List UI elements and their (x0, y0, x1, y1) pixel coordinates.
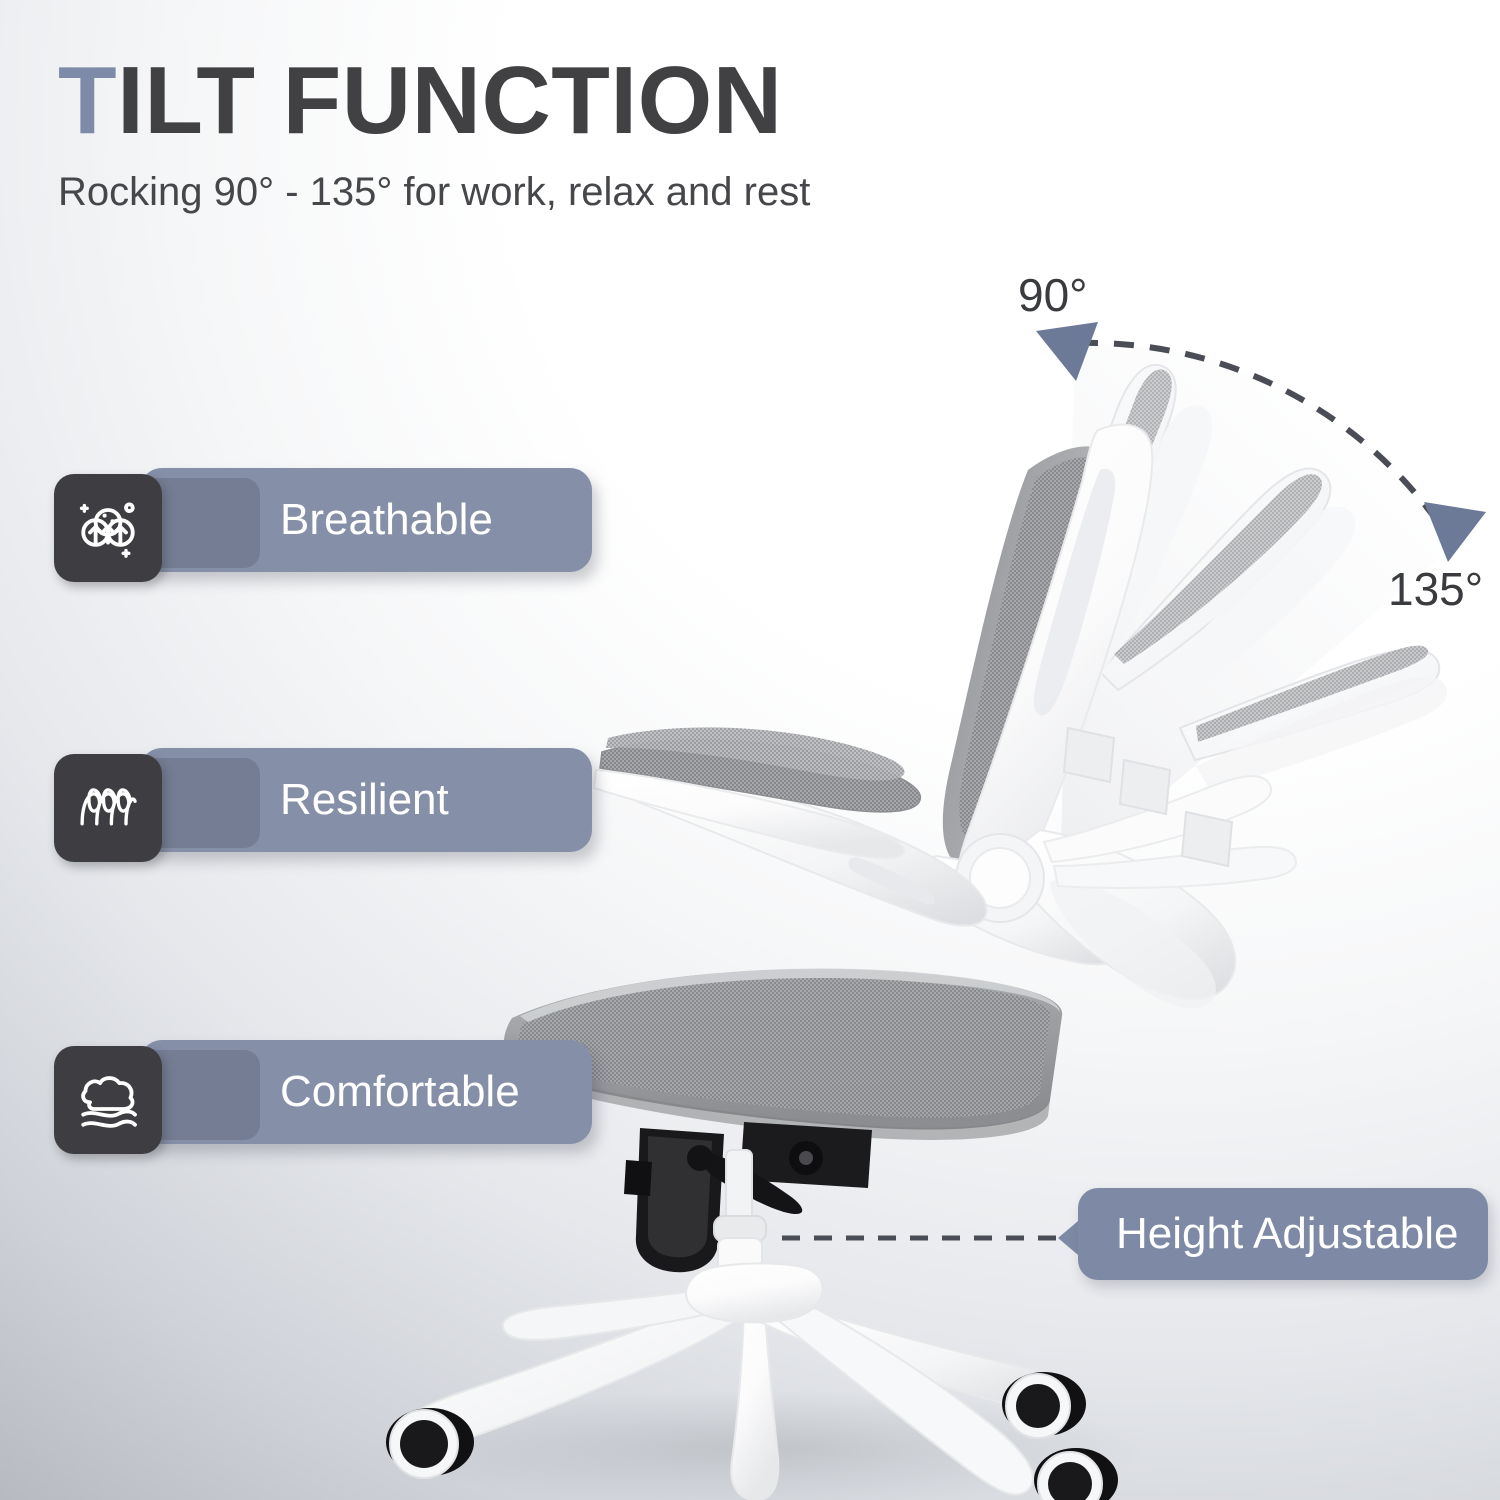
feature-label: Resilient (280, 775, 449, 825)
feature-badge-comfortable[interactable]: Comfortable (54, 1040, 544, 1148)
feature-label: Breathable (280, 495, 493, 545)
header-block: TILT FUNCTION Rocking 90° - 135° for wor… (58, 52, 1058, 215)
spring-coil-icon (54, 754, 162, 862)
breathable-airflow-icon (54, 474, 162, 582)
title-rest: ILT FUNCTION (117, 47, 782, 154)
infographic-canvas: TILT FUNCTION Rocking 90° - 135° for wor… (0, 0, 1500, 1500)
feature-badge-resilient[interactable]: Resilient (54, 748, 544, 856)
height-adjustable-callout[interactable]: Height Adjustable (1078, 1188, 1488, 1280)
feature-badge-breathable[interactable]: Breathable (54, 468, 544, 576)
title-lead-letter: T (58, 47, 117, 154)
callout-label: Height Adjustable (1116, 1209, 1458, 1259)
cushion-cloud-icon (54, 1046, 162, 1154)
angle-label-min: 90° (1018, 268, 1088, 322)
page-title: TILT FUNCTION (58, 52, 1058, 150)
page-subtitle: Rocking 90° - 135° for work, relax and r… (58, 170, 1058, 215)
feature-label: Comfortable (280, 1067, 520, 1117)
angle-label-max: 135° (1388, 562, 1483, 616)
